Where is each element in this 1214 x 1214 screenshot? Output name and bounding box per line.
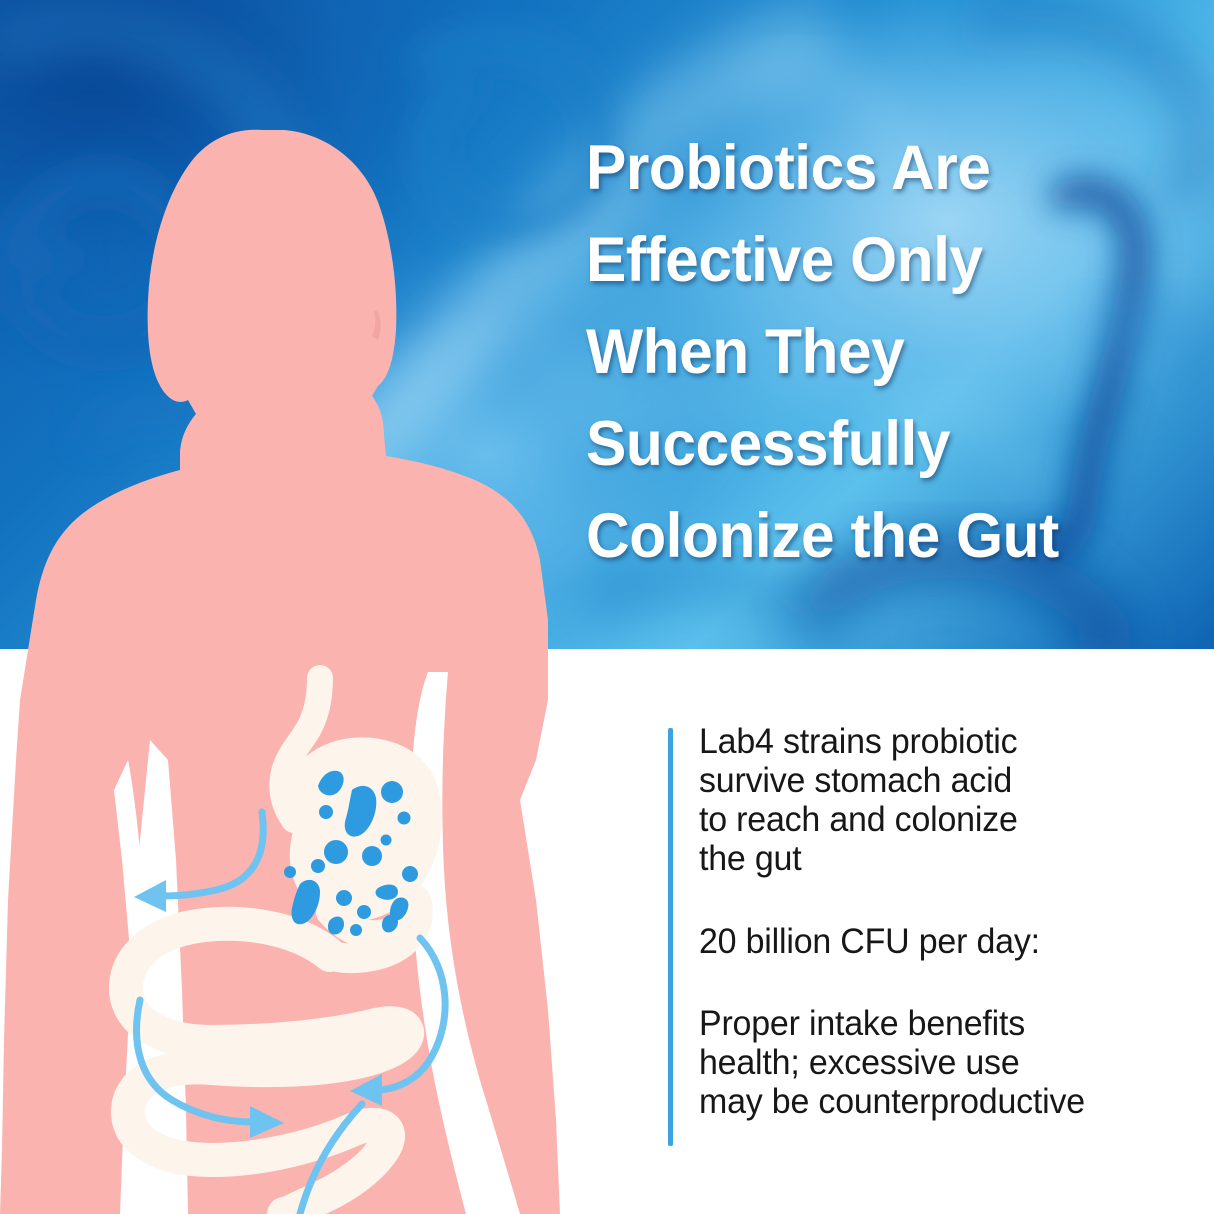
paragraph-spacer: [699, 878, 1199, 922]
paragraph-line: 20 billion CFU per day:: [699, 922, 1184, 961]
paragraph-spacer: [699, 961, 1199, 1004]
paragraph-intake-warning: Proper intake benefits health; excessive…: [699, 1004, 1184, 1121]
paragraph-line: health; excessive use: [699, 1043, 1184, 1082]
infographic-canvas: Probiotics Are Effective Only When They …: [0, 0, 1214, 1214]
paragraph-lab4-strains: Lab4 strains probiotic survive stomach a…: [699, 722, 1184, 878]
female-body-illustration: [0, 0, 680, 1214]
copy-block: Lab4 strains probiotic survive stomach a…: [668, 728, 1188, 1148]
paragraph-line: Lab4 strains probiotic: [699, 722, 1184, 761]
paragraph-line: may be counterproductive: [699, 1082, 1184, 1121]
paragraph-line: Proper intake benefits: [699, 1004, 1184, 1043]
accent-bar: [668, 728, 673, 1146]
paragraph-line: the gut: [699, 839, 1184, 878]
paragraph-dosage: 20 billion CFU per day:: [699, 922, 1184, 961]
paragraph-line: to reach and colonize: [699, 800, 1184, 839]
paragraph-line: survive stomach acid: [699, 761, 1184, 800]
